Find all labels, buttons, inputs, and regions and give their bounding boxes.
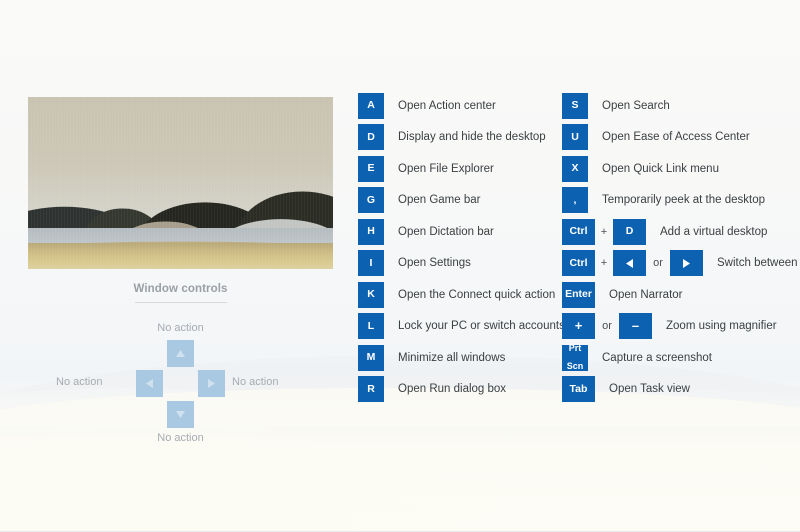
key-connector-plus: + <box>595 226 613 238</box>
shortcut-row: SOpen Search <box>562 90 798 122</box>
key-arrow-left[interactable] <box>613 250 646 276</box>
shortcut-description: Zoom using magnifier <box>666 320 777 332</box>
shortcut-row: ,Temporarily peek at the desktop <box>562 185 798 217</box>
key-a[interactable]: A <box>358 93 384 119</box>
dpad-up-key[interactable] <box>167 340 194 367</box>
key-h[interactable]: H <box>358 219 384 245</box>
shortcut-description: Switch between <box>717 257 798 269</box>
key-d[interactable]: D <box>613 219 646 245</box>
key-ctrl[interactable]: Ctrl <box>562 250 595 276</box>
window-controls-divider <box>135 302 227 303</box>
shortcut-row: Ctrl+orSwitch between <box>562 248 798 280</box>
shortcut-column-1: AOpen Action centerDDisplay and hide the… <box>358 90 558 405</box>
key-g[interactable]: G <box>358 187 384 213</box>
shortcut-row: ROpen Run dialog box <box>358 374 558 406</box>
shortcut-row: PrtScnCapture a screenshot <box>562 342 798 374</box>
key-arrow-right[interactable] <box>670 250 703 276</box>
shortcut-row: EnterOpen Narrator <box>562 279 798 311</box>
shortcut-description: Open Settings <box>398 257 471 269</box>
arrow-left-icon <box>146 379 153 388</box>
arrow-right-icon <box>683 259 690 268</box>
shortcut-row: HOpen Dictation bar <box>358 216 558 248</box>
shortcut-description: Lock your PC or switch accounts <box>398 320 565 332</box>
shortcut-row: Ctrl+DAdd a virtual desktop <box>562 216 798 248</box>
shortcut-row: EOpen File Explorer <box>358 153 558 185</box>
shortcut-description: Open Search <box>602 100 670 112</box>
shortcut-description: Capture a screenshot <box>602 352 712 364</box>
key-e[interactable]: E <box>358 156 384 182</box>
shortcut-description: Open Ease of Access Center <box>602 131 750 143</box>
key-m[interactable]: M <box>358 345 384 371</box>
key-d[interactable]: D <box>358 124 384 150</box>
key-connector-or: or <box>646 257 670 269</box>
key-symbol[interactable]: + <box>562 313 595 339</box>
shortcut-description: Open the Connect quick action <box>398 289 555 301</box>
arrow-right-icon <box>208 379 215 388</box>
dpad-group: No action No action No action No action <box>28 309 333 439</box>
shortcut-row: GOpen Game bar <box>358 185 558 217</box>
key-connector-plus: + <box>595 257 613 269</box>
key-prt-scn[interactable]: PrtScn <box>562 345 588 371</box>
arrow-down-icon <box>176 411 185 418</box>
key-u[interactable]: U <box>562 124 588 150</box>
shortcut-description: Temporarily peek at the desktop <box>602 194 765 206</box>
shortcut-description: Display and hide the desktop <box>398 131 546 143</box>
shortcut-row: AOpen Action center <box>358 90 558 122</box>
dpad-down-label: No action <box>28 432 333 444</box>
shortcut-row: XOpen Quick Link menu <box>562 153 798 185</box>
shortcut-description: Open File Explorer <box>398 163 494 175</box>
shortcut-row: MMinimize all windows <box>358 342 558 374</box>
dpad-right-key[interactable] <box>198 370 225 397</box>
arrow-up-icon <box>176 350 185 357</box>
shortcut-description: Open Task view <box>609 383 690 395</box>
key-l[interactable]: L <box>358 313 384 339</box>
window-controls-section: Window controls No action No action No a… <box>28 283 333 443</box>
shortcut-row: IOpen Settings <box>358 248 558 280</box>
key-symbol[interactable]: , <box>562 187 588 213</box>
key-tab[interactable]: Tab <box>562 376 595 402</box>
shortcut-description: Minimize all windows <box>398 352 505 364</box>
key-connector-or: or <box>595 320 619 332</box>
thumbnail-grass-gold <box>28 243 333 269</box>
shortcut-description: Open Dictation bar <box>398 226 494 238</box>
dpad-right-label: No action <box>232 376 278 388</box>
dpad-left-key[interactable] <box>136 370 163 397</box>
key-symbol[interactable]: – <box>619 313 652 339</box>
dpad-down-key[interactable] <box>167 401 194 428</box>
key-i[interactable]: I <box>358 250 384 276</box>
shortcut-description: Open Game bar <box>398 194 480 206</box>
shortcut-row: UOpen Ease of Access Center <box>562 122 798 154</box>
key-enter[interactable]: Enter <box>562 282 595 308</box>
shortcut-description: Open Action center <box>398 100 496 112</box>
shortcut-column-2: SOpen SearchUOpen Ease of Access CenterX… <box>562 90 798 405</box>
key-r[interactable]: R <box>358 376 384 402</box>
key-x[interactable]: X <box>562 156 588 182</box>
key-k[interactable]: K <box>358 282 384 308</box>
key-ctrl[interactable]: Ctrl <box>562 219 595 245</box>
arrow-left-icon <box>626 259 633 268</box>
shortcut-description: Add a virtual desktop <box>660 226 767 238</box>
shortcut-description: Open Narrator <box>609 289 683 301</box>
dpad-up-label: No action <box>28 322 333 334</box>
shortcut-row: DDisplay and hide the desktop <box>358 122 558 154</box>
key-s[interactable]: S <box>562 93 588 119</box>
wallpaper-thumbnail <box>28 97 333 269</box>
dpad-left-label: No action <box>56 376 102 388</box>
shortcut-row: TabOpen Task view <box>562 374 798 406</box>
shortcut-row: +or–Zoom using magnifier <box>562 311 798 343</box>
window-controls-title: Window controls <box>28 283 333 295</box>
shortcut-row: KOpen the Connect quick action <box>358 279 558 311</box>
shortcut-description: Open Run dialog box <box>398 383 506 395</box>
shortcut-description: Open Quick Link menu <box>602 163 719 175</box>
shortcut-row: LLock your PC or switch accounts <box>358 311 558 343</box>
